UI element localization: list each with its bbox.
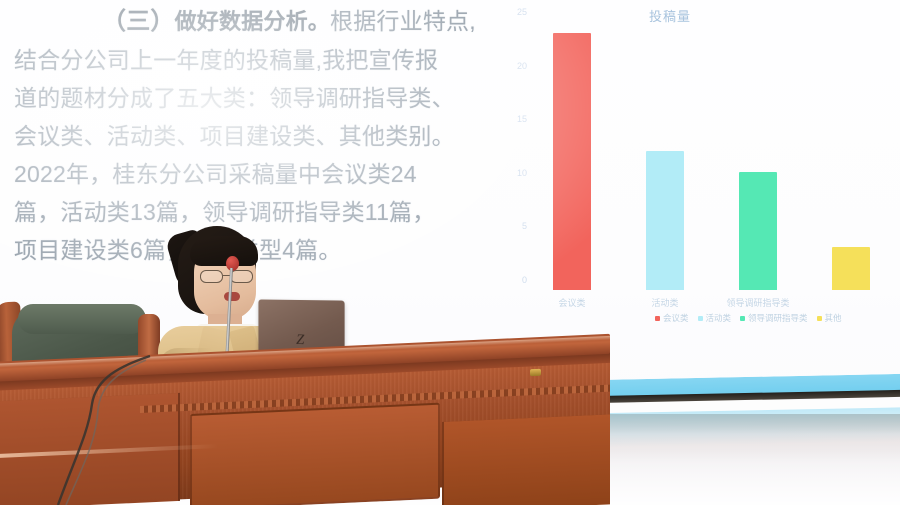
- slide-heading-tail: 根据行业特点,: [330, 8, 476, 34]
- screenshot-stage: （三）做好数据分析。根据行业特点, 结合分公司上一年度的投稿量,我把宣传报 道的…: [0, 0, 900, 505]
- chart-bar: [832, 247, 870, 290]
- chart-legend: 会议类活动类领导调研指导类其他: [655, 312, 842, 324]
- chair-headrest: [18, 304, 146, 334]
- legend-label: 会议类: [663, 312, 689, 324]
- slide-heading-number: （三）: [102, 8, 175, 35]
- legend-item: 活动类: [698, 312, 732, 324]
- y-axis-tick: 15: [517, 114, 527, 124]
- slide-heading-title: 做好数据分析。: [175, 9, 330, 34]
- legend-label: 领导调研指导类: [748, 312, 808, 324]
- legend-item: 其他: [817, 312, 842, 324]
- laptop-logo: Z: [296, 332, 304, 349]
- y-axis-tick: 5: [522, 221, 527, 231]
- chart-bar: [553, 33, 591, 290]
- x-axis-label: 活动类: [652, 296, 679, 309]
- slide-line-1: 结合分公司上一年度的投稿量,我把宣传报: [14, 41, 524, 79]
- x-axis-label: 会议类: [559, 296, 586, 309]
- legend-swatch-icon: [740, 316, 745, 321]
- slide-line-2: 道的题材分成了五大类：领导调研指导类、: [14, 79, 524, 117]
- legend-swatch-icon: [698, 316, 703, 321]
- legend-label: 其他: [825, 312, 842, 324]
- y-axis-tick: 10: [517, 168, 527, 178]
- chart-plot-area: 0510152025会议类活动类领导调研指导类: [533, 22, 900, 290]
- legend-item: 领导调研指导类: [740, 312, 808, 324]
- cables: [0, 352, 260, 505]
- podium-brass-fitting: [530, 369, 541, 376]
- y-axis-tick: 20: [517, 61, 527, 71]
- bar-chart: 投稿量 0510152025会议类活动类领导调研指导类 会议类活动类领导调研指导…: [505, 0, 900, 330]
- y-axis-tick: 25: [517, 7, 527, 17]
- x-axis-label: 领导调研指导类: [727, 296, 790, 309]
- slide-line-3: 会议类、活动类、项目建设类、其他类别。: [14, 117, 524, 155]
- legend-label: 活动类: [706, 312, 732, 324]
- chart-bar: [646, 151, 684, 290]
- chart-bar: [739, 172, 777, 290]
- slide-heading: （三）做好数据分析。根据行业特点,: [14, 2, 524, 41]
- legend-item: 会议类: [655, 312, 689, 324]
- legend-swatch-icon: [817, 316, 822, 321]
- slide-line-4: 2022年，桂东分公司采稿量中会议类24: [14, 155, 524, 193]
- legend-swatch-icon: [655, 316, 660, 321]
- y-axis-tick: 0: [522, 275, 527, 285]
- cable-paths: [0, 352, 260, 505]
- podium-panel-right: [442, 414, 610, 505]
